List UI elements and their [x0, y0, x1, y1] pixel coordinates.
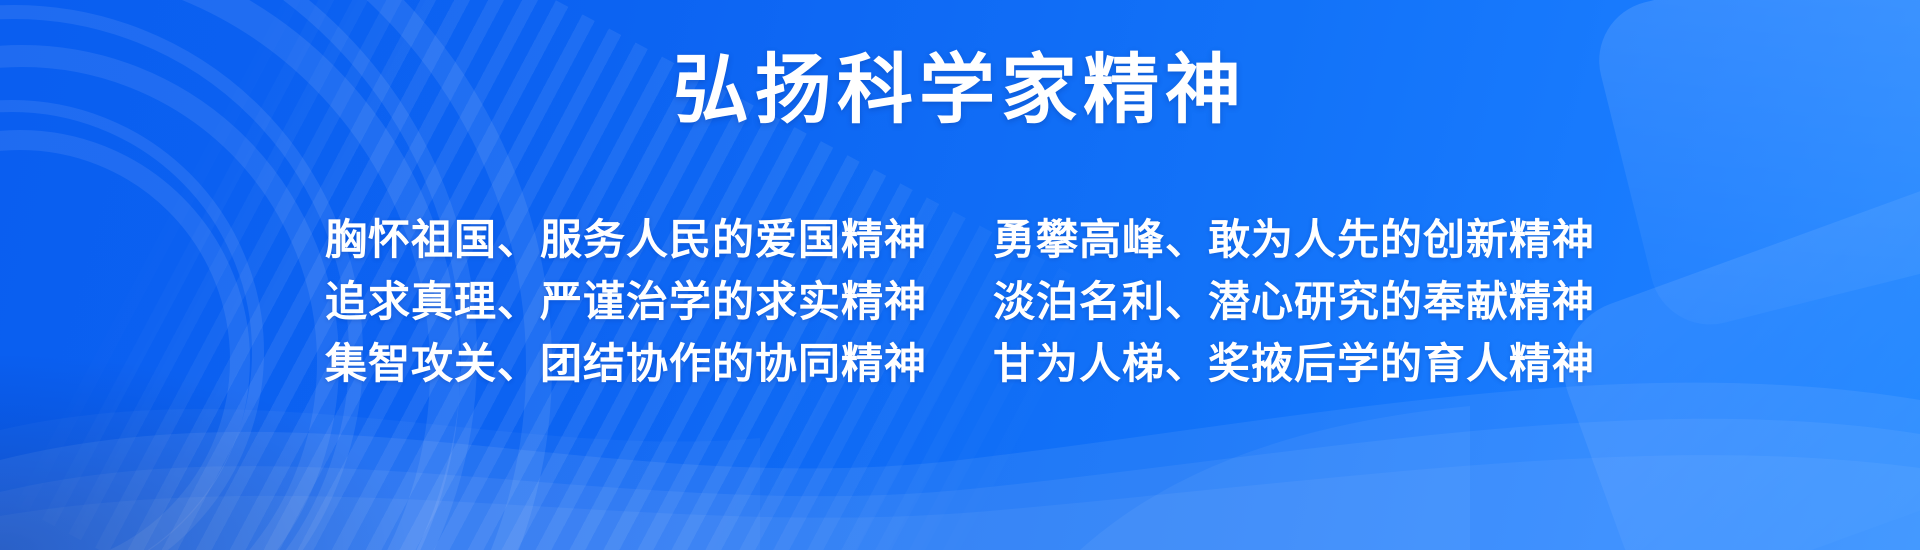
slogan-right-2: 淡泊名利、潜心研究的奉献精神 — [993, 275, 1595, 329]
banner-content: 弘扬科学家精神 胸怀祖国、服务人民的爱国精神 勇攀高峰、敢为人先的创新精神 追求… — [0, 0, 1920, 550]
slogan-left-3: 集智攻关、团结协作的协同精神 — [325, 337, 927, 391]
banner-title: 弘扬科学家精神 — [673, 52, 1247, 128]
slogan-left-2: 追求真理、严谨治学的求实精神 — [325, 275, 927, 329]
slogan-left-1: 胸怀祖国、服务人民的爱国精神 — [325, 213, 927, 267]
slogan-grid: 胸怀祖国、服务人民的爱国精神 勇攀高峰、敢为人先的创新精神 追求真理、严谨治学的… — [325, 213, 1595, 391]
slogan-right-1: 勇攀高峰、敢为人先的创新精神 — [993, 213, 1595, 267]
banner-root: 弘扬科学家精神 胸怀祖国、服务人民的爱国精神 勇攀高峰、敢为人先的创新精神 追求… — [0, 0, 1920, 550]
slogan-right-3: 甘为人梯、奖掖后学的育人精神 — [993, 337, 1595, 391]
